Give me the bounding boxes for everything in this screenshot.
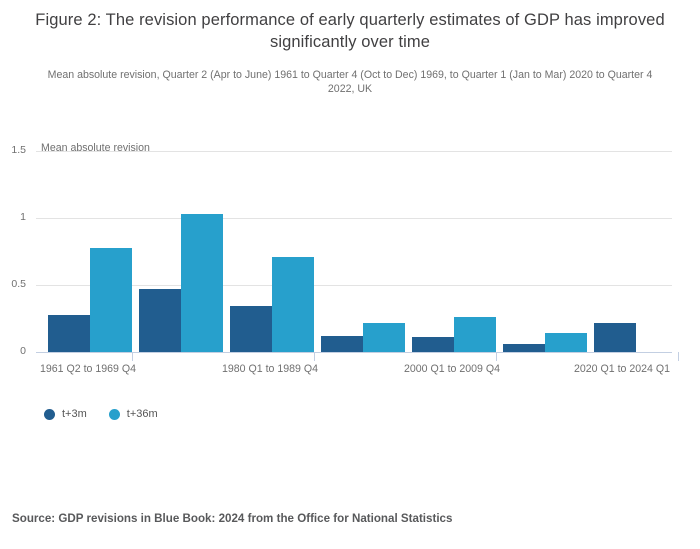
bar-t36m-2010[interactable] — [545, 333, 587, 352]
legend-dot-icon — [44, 409, 55, 420]
bar-t3m-2010[interactable] — [503, 344, 545, 352]
legend-item-t3m[interactable]: t+3m — [44, 408, 87, 420]
page-title: Figure 2: The revision performance of ea… — [30, 10, 670, 54]
legend-item-t36m[interactable]: t+36m — [109, 408, 158, 420]
source-note: Source: GDP revisions in Blue Book: 2024… — [12, 512, 452, 525]
bar-t36m-1961[interactable] — [90, 248, 132, 353]
bar-t3m-1970[interactable] — [139, 289, 181, 352]
x-tick-1961 — [132, 352, 133, 361]
figure-header: Figure 2: The revision performance of ea… — [0, 0, 700, 97]
x-axis-label-1961: 1961 Q2 to 1969 Q4 — [40, 363, 136, 375]
bar-t3m-1990[interactable] — [321, 336, 363, 352]
x-tick-1980 — [314, 352, 315, 361]
x-tick-2020 — [678, 352, 679, 361]
chart-legend: t+3m t+36m — [44, 408, 158, 420]
bar-t36m-2000[interactable] — [454, 317, 496, 352]
bar-t36m-1970[interactable] — [181, 214, 223, 352]
figure-subtitle: Mean absolute revision, Quarter 2 (Apr t… — [38, 68, 663, 97]
y-tick-label-1: 1 — [0, 211, 26, 223]
bar-t3m-2000[interactable] — [412, 337, 454, 352]
legend-dot-icon — [109, 409, 120, 420]
x-tick-2000 — [496, 352, 497, 361]
bar-t3m-1980[interactable] — [230, 306, 272, 352]
x-axis-label-1980: 1980 Q1 to 1989 Q4 — [222, 363, 318, 375]
y-tick-label-0.5: 0.5 — [0, 278, 26, 290]
bar-t3m-1961[interactable] — [48, 315, 90, 353]
bar-t3m-2020[interactable] — [594, 323, 636, 353]
legend-label-t3m: t+3m — [62, 408, 87, 420]
x-axis-label-2020: 2020 Q1 to 2024 Q1 — [574, 363, 670, 375]
y-tick-label-1.5: 1.5 — [0, 144, 26, 156]
x-axis: 1961 Q2 to 1969 Q4 1980 Q1 to 1989 Q4 20… — [0, 352, 700, 392]
bar-t36m-1980[interactable] — [272, 257, 314, 352]
x-axis-label-2000: 2000 Q1 to 2009 Q4 — [404, 363, 500, 375]
bar-t36m-1990[interactable] — [363, 323, 405, 353]
bar-series-container — [36, 151, 672, 352]
legend-label-t36m: t+36m — [127, 408, 158, 420]
bar-chart: Mean absolute revision 1.5 1 0.5 0 — [0, 130, 700, 390]
